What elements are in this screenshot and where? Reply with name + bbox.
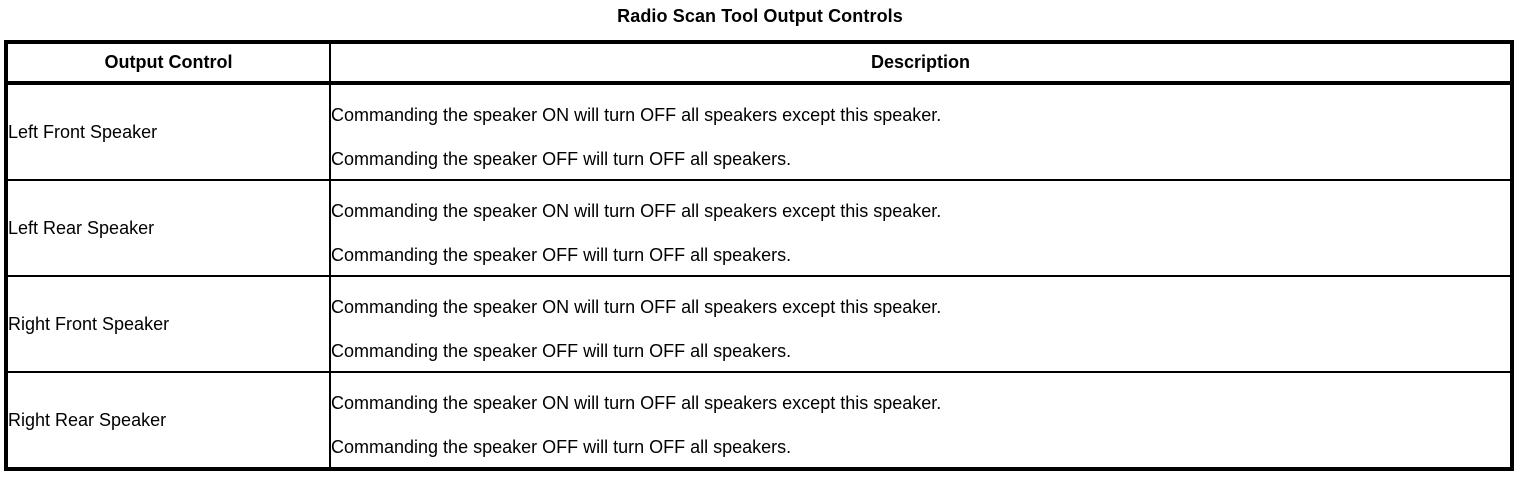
output-control-description: Commanding the speaker ON will turn OFF … — [330, 372, 1512, 469]
output-control-description: Commanding the speaker ON will turn OFF … — [330, 83, 1512, 180]
output-control-name: Right Rear Speaker — [6, 372, 330, 469]
output-control-name: Left Front Speaker — [6, 83, 330, 180]
table-row: Right Rear Speaker Commanding the speake… — [6, 372, 1512, 469]
table-row: Left Rear Speaker Commanding the speaker… — [6, 180, 1512, 276]
output-control-name: Right Front Speaker — [6, 276, 330, 372]
description-line-on: Commanding the speaker ON will turn OFF … — [331, 104, 1510, 126]
description-line-on: Commanding the speaker ON will turn OFF … — [331, 296, 1510, 318]
table-header-row: Output Control Description — [6, 42, 1512, 83]
description-block: Commanding the speaker ON will turn OFF … — [331, 95, 1510, 170]
description-line-off: Commanding the speaker OFF will turn OFF… — [331, 244, 1510, 266]
description-line-off: Commanding the speaker OFF will turn OFF… — [331, 148, 1510, 170]
output-control-description: Commanding the speaker ON will turn OFF … — [330, 276, 1512, 372]
page-title: Radio Scan Tool Output Controls — [0, 0, 1520, 27]
description-spacer — [331, 318, 1510, 340]
table-row: Right Front Speaker Commanding the speak… — [6, 276, 1512, 372]
description-line-off: Commanding the speaker OFF will turn OFF… — [331, 340, 1510, 362]
description-spacer — [331, 222, 1510, 244]
table-body: Left Front Speaker Commanding the speake… — [6, 83, 1512, 469]
description-line-on: Commanding the speaker ON will turn OFF … — [331, 392, 1510, 414]
column-header-output-control: Output Control — [6, 42, 330, 83]
description-block: Commanding the speaker ON will turn OFF … — [331, 287, 1510, 362]
description-line-on: Commanding the speaker ON will turn OFF … — [331, 200, 1510, 222]
description-block: Commanding the speaker ON will turn OFF … — [331, 383, 1510, 458]
table-header: Output Control Description — [6, 42, 1512, 83]
table-row: Left Front Speaker Commanding the speake… — [6, 83, 1512, 180]
output-control-name: Left Rear Speaker — [6, 180, 330, 276]
document-page: Radio Scan Tool Output Controls Output C… — [0, 0, 1520, 484]
description-block: Commanding the speaker ON will turn OFF … — [331, 191, 1510, 266]
radio-scan-output-controls-table: Output Control Description Left Front Sp… — [4, 40, 1514, 471]
output-control-description: Commanding the speaker ON will turn OFF … — [330, 180, 1512, 276]
description-spacer — [331, 126, 1510, 148]
table-container: Output Control Description Left Front Sp… — [4, 40, 1514, 471]
description-line-off: Commanding the speaker OFF will turn OFF… — [331, 436, 1510, 458]
description-spacer — [331, 414, 1510, 436]
column-header-description: Description — [330, 42, 1512, 83]
